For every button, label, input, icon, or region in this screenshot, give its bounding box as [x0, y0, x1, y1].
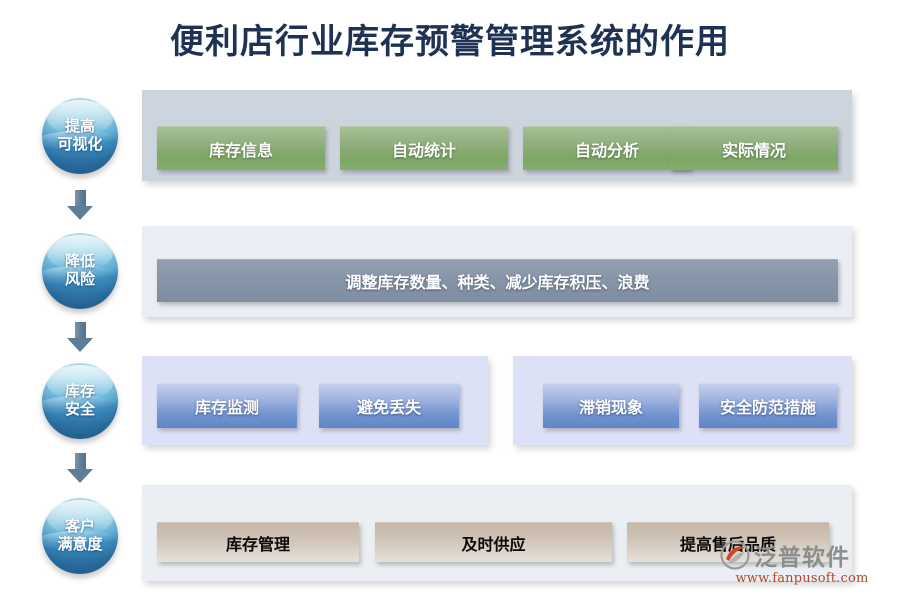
stage-badge-inventory-safety: 库存 安全	[42, 363, 118, 439]
stage-badge-line2: 风险	[65, 271, 95, 289]
arrow-down-icon	[67, 322, 93, 352]
chip-auto-analysis[interactable]: 自动分析	[523, 126, 691, 170]
arrow-down-icon	[67, 453, 93, 483]
chip-actual-situation[interactable]: 实际情况	[670, 126, 838, 170]
fanpu-logo-icon	[720, 540, 750, 570]
stage-badge-line1: 提高	[65, 118, 95, 136]
chip-slow-moving[interactable]: 滞销现象	[543, 383, 679, 428]
stage-badge-line2: 可视化	[57, 136, 102, 154]
stage-panel-visualization: 库存信息 自动统计 自动分析 实际情况	[142, 90, 852, 181]
watermark-brand: 泛普软件	[754, 538, 850, 572]
chip-inventory-management[interactable]: 库存管理	[157, 522, 359, 562]
chip-timely-supply[interactable]: 及时供应	[375, 522, 612, 562]
stage-badge-line2: 安全	[65, 401, 95, 419]
stage-badge-customer-satisfaction: 客户 满意度	[42, 498, 118, 574]
watermark-url: www.fanpusoft.com	[720, 571, 884, 586]
chip-adjust-inventory[interactable]: 调整库存数量、种类、减少库存积压、浪费	[157, 259, 838, 302]
diagram-canvas: 便利店行业库存预警管理系统的作用 提高 可视化 库存信息 自动统计 自动分析 实…	[0, 0, 900, 600]
watermark: 泛普软件 www.fanpusoft.com	[720, 538, 884, 594]
page-title: 便利店行业库存预警管理系统的作用	[0, 14, 900, 63]
stage-badge-line1: 库存	[65, 383, 95, 401]
chip-inventory-monitoring[interactable]: 库存监测	[157, 383, 297, 428]
chip-safety-measures[interactable]: 安全防范措施	[699, 383, 837, 428]
stage-panel-inventory-safety-right: 滞销现象 安全防范措施	[513, 356, 852, 445]
arrow-down-icon	[67, 190, 93, 220]
stage-panel-inventory-safety-left: 库存监测 避免丢失	[142, 356, 488, 445]
chip-avoid-loss[interactable]: 避免丢失	[319, 383, 459, 428]
stage-badge-line1: 客户	[65, 518, 95, 536]
stage-badge-visualization: 提高 可视化	[42, 98, 118, 174]
chip-inventory-info[interactable]: 库存信息	[157, 126, 325, 170]
stage-badge-line2: 满意度	[57, 536, 102, 554]
stage-badge-risk: 降低 风险	[42, 233, 118, 309]
stage-panel-risk: 调整库存数量、种类、减少库存积压、浪费	[142, 226, 852, 317]
chip-auto-statistics[interactable]: 自动统计	[340, 126, 508, 170]
stage-badge-line1: 降低	[65, 253, 95, 271]
